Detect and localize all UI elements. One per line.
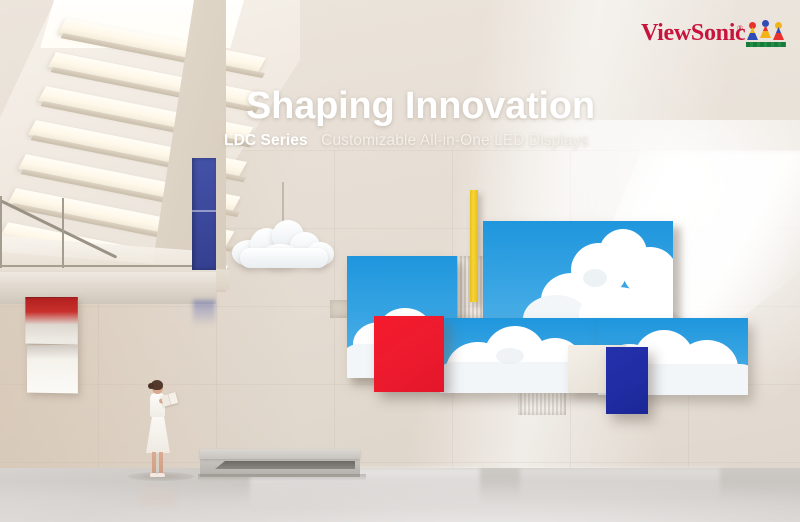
person-leg xyxy=(152,452,156,474)
led-panel-solid-red xyxy=(374,316,444,392)
angled-panel-red xyxy=(25,297,77,344)
railing-post xyxy=(0,196,2,268)
person-reflection xyxy=(140,480,176,506)
logo-green-base xyxy=(746,42,786,47)
person-shoe xyxy=(157,473,165,477)
bench-notch xyxy=(215,461,355,469)
bench-top-surface xyxy=(200,449,360,459)
woman-reading-book xyxy=(140,381,176,480)
railing-post xyxy=(62,198,64,268)
cloud-sculpture-rod xyxy=(282,182,284,222)
finch-body xyxy=(760,25,771,38)
led-panel-solid-blue xyxy=(606,347,648,414)
person-skirt xyxy=(146,415,170,453)
blue-recess-seam xyxy=(192,210,216,212)
yellow-accent-bar xyxy=(470,190,478,302)
logo-wordmark: ViewSonic xyxy=(641,20,745,47)
cloud-shade xyxy=(496,348,524,364)
floor-skylight-reflection xyxy=(520,468,720,502)
cloud-shade xyxy=(583,269,607,287)
finch-body xyxy=(773,27,784,40)
finch-body xyxy=(747,27,758,40)
subtitle-text: Customizable All-in-One LED Displays xyxy=(321,132,588,149)
registered-trademark-icon: ® xyxy=(737,24,743,33)
blue-recess-reflection xyxy=(193,300,215,326)
railing-rail xyxy=(0,265,208,267)
page-title: Shaping Innovation xyxy=(246,85,595,128)
person-leg xyxy=(159,452,163,474)
angled-panel-white xyxy=(27,345,78,394)
finch-icon xyxy=(760,20,771,42)
person-hair-bun xyxy=(148,383,154,389)
series-label: LDC Series xyxy=(224,132,308,149)
finch-icon xyxy=(747,22,758,44)
cloud-sculpture xyxy=(232,218,336,270)
blue-recess-panel xyxy=(192,158,216,270)
hero-banner: Shaping Innovation LDC Series Customizab… xyxy=(0,0,800,522)
finch-icon xyxy=(773,22,784,44)
open-book xyxy=(161,392,178,407)
bench-shadow xyxy=(198,474,366,481)
subtitle-line: LDC Series Customizable All-in-One LED D… xyxy=(224,132,588,150)
